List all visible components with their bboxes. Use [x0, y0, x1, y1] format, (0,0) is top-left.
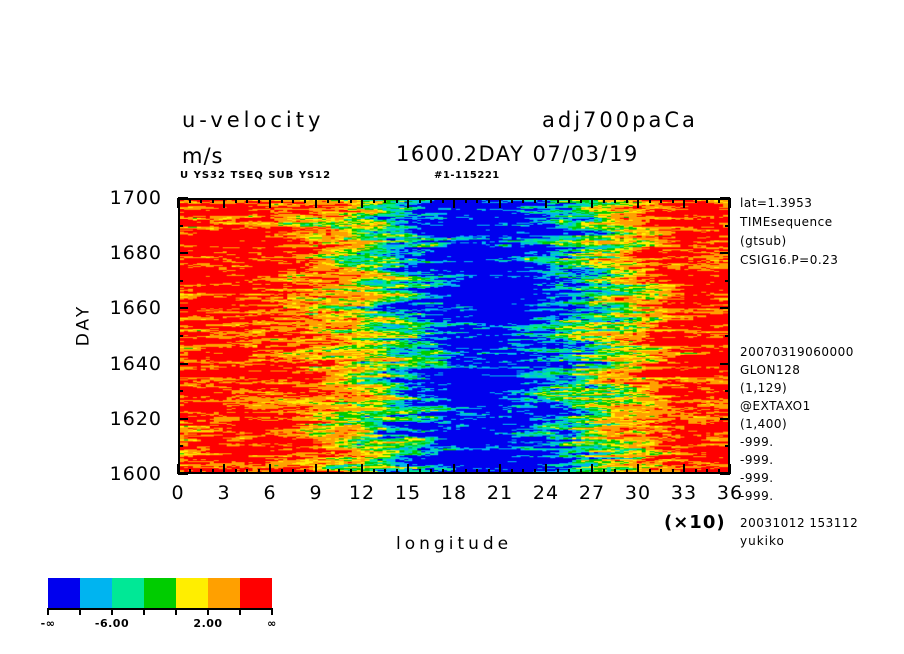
colorbar-tick	[207, 608, 209, 615]
annotation-line: CSIG16.P=0.23	[740, 253, 838, 267]
colorbar-swatches	[48, 578, 272, 608]
units-label: m/s	[182, 144, 223, 168]
subtitle-left: U YS32 TSEQ SUB YS12	[180, 170, 331, 181]
page-title: u-velocity	[182, 108, 324, 132]
annotation-line: -999.	[740, 489, 774, 503]
colorbar-tick	[111, 608, 113, 615]
colorbar-swatch	[48, 578, 80, 608]
colorbar-tick	[47, 608, 49, 615]
colorbar-tick-label: -∞	[41, 617, 56, 630]
annotation-line: TIMEsequence	[740, 215, 833, 229]
y-tick-label: 1660	[82, 297, 162, 319]
x-tick-label: 15	[395, 482, 421, 504]
x-tick-label: 9	[309, 482, 322, 504]
y-tick-label: 1600	[82, 463, 162, 485]
annotation-line: (1,129)	[740, 381, 787, 395]
footer-timestamp: 20031012 153112	[740, 516, 858, 530]
colorbar-tick-label: ∞	[267, 617, 277, 630]
y-tick-label: 1640	[82, 353, 162, 375]
colorbar-tick	[239, 608, 241, 615]
colorbar-tick-label: 2.00	[193, 617, 222, 630]
y-tick-label: 1620	[82, 408, 162, 430]
heatmap-field-canvas	[180, 200, 728, 472]
annotation-line: -999.	[740, 435, 774, 449]
x-tick-label: 27	[579, 482, 605, 504]
annotation-line: GLON128	[740, 363, 800, 377]
annotation-line: (gtsub)	[740, 234, 787, 248]
y-tick-label: 1700	[82, 187, 162, 209]
colorbar-swatch	[80, 578, 112, 608]
x-tick-label: 30	[625, 482, 651, 504]
colorbar-swatch	[144, 578, 176, 608]
x-axis-title: longitude	[396, 534, 512, 554]
x-tick-label: 33	[671, 482, 697, 504]
colorbar-tick	[271, 608, 273, 615]
colorbar-tick-label: -6.00	[95, 617, 129, 630]
colorbar-tick	[175, 608, 177, 615]
colorbar-swatch	[208, 578, 240, 608]
footer-username: yukiko	[740, 534, 785, 548]
x-tick-label: 6	[263, 482, 276, 504]
colorbar-swatch	[240, 578, 272, 608]
colorbar-swatch	[176, 578, 208, 608]
annotation-line: lat=1.3953	[740, 196, 812, 210]
annotation-line: 20070319060000	[740, 345, 854, 359]
y-tick-label: 1680	[82, 242, 162, 264]
x-tick-label: 18	[441, 482, 467, 504]
colorbar-tick	[143, 608, 145, 615]
day-timestamp-label: 1600.2DAY 07/03/19	[396, 142, 639, 166]
x-tick-label: 0	[171, 482, 184, 504]
x-tick-label: 21	[487, 482, 513, 504]
subtitle-right: #1-115221	[434, 170, 500, 181]
annotation-line: -999.	[740, 453, 774, 467]
x-tick-label: 24	[533, 482, 559, 504]
dataset-title: adj700paCa	[542, 108, 698, 132]
annotation-line: -999.	[740, 471, 774, 485]
colorbar-tick	[79, 608, 81, 615]
heatmap-plot-area	[178, 198, 730, 474]
x-tick-label: 3	[217, 482, 230, 504]
y-axis-title: DAY	[73, 304, 93, 347]
annotation-line: (1,400)	[740, 417, 787, 431]
x-scale-note: (×10)	[664, 512, 726, 533]
annotation-line: @EXTAXO1	[740, 399, 811, 413]
colorbar: -∞-6.002.00∞	[20, 566, 340, 636]
colorbar-swatch	[112, 578, 144, 608]
x-tick-label: 12	[349, 482, 375, 504]
